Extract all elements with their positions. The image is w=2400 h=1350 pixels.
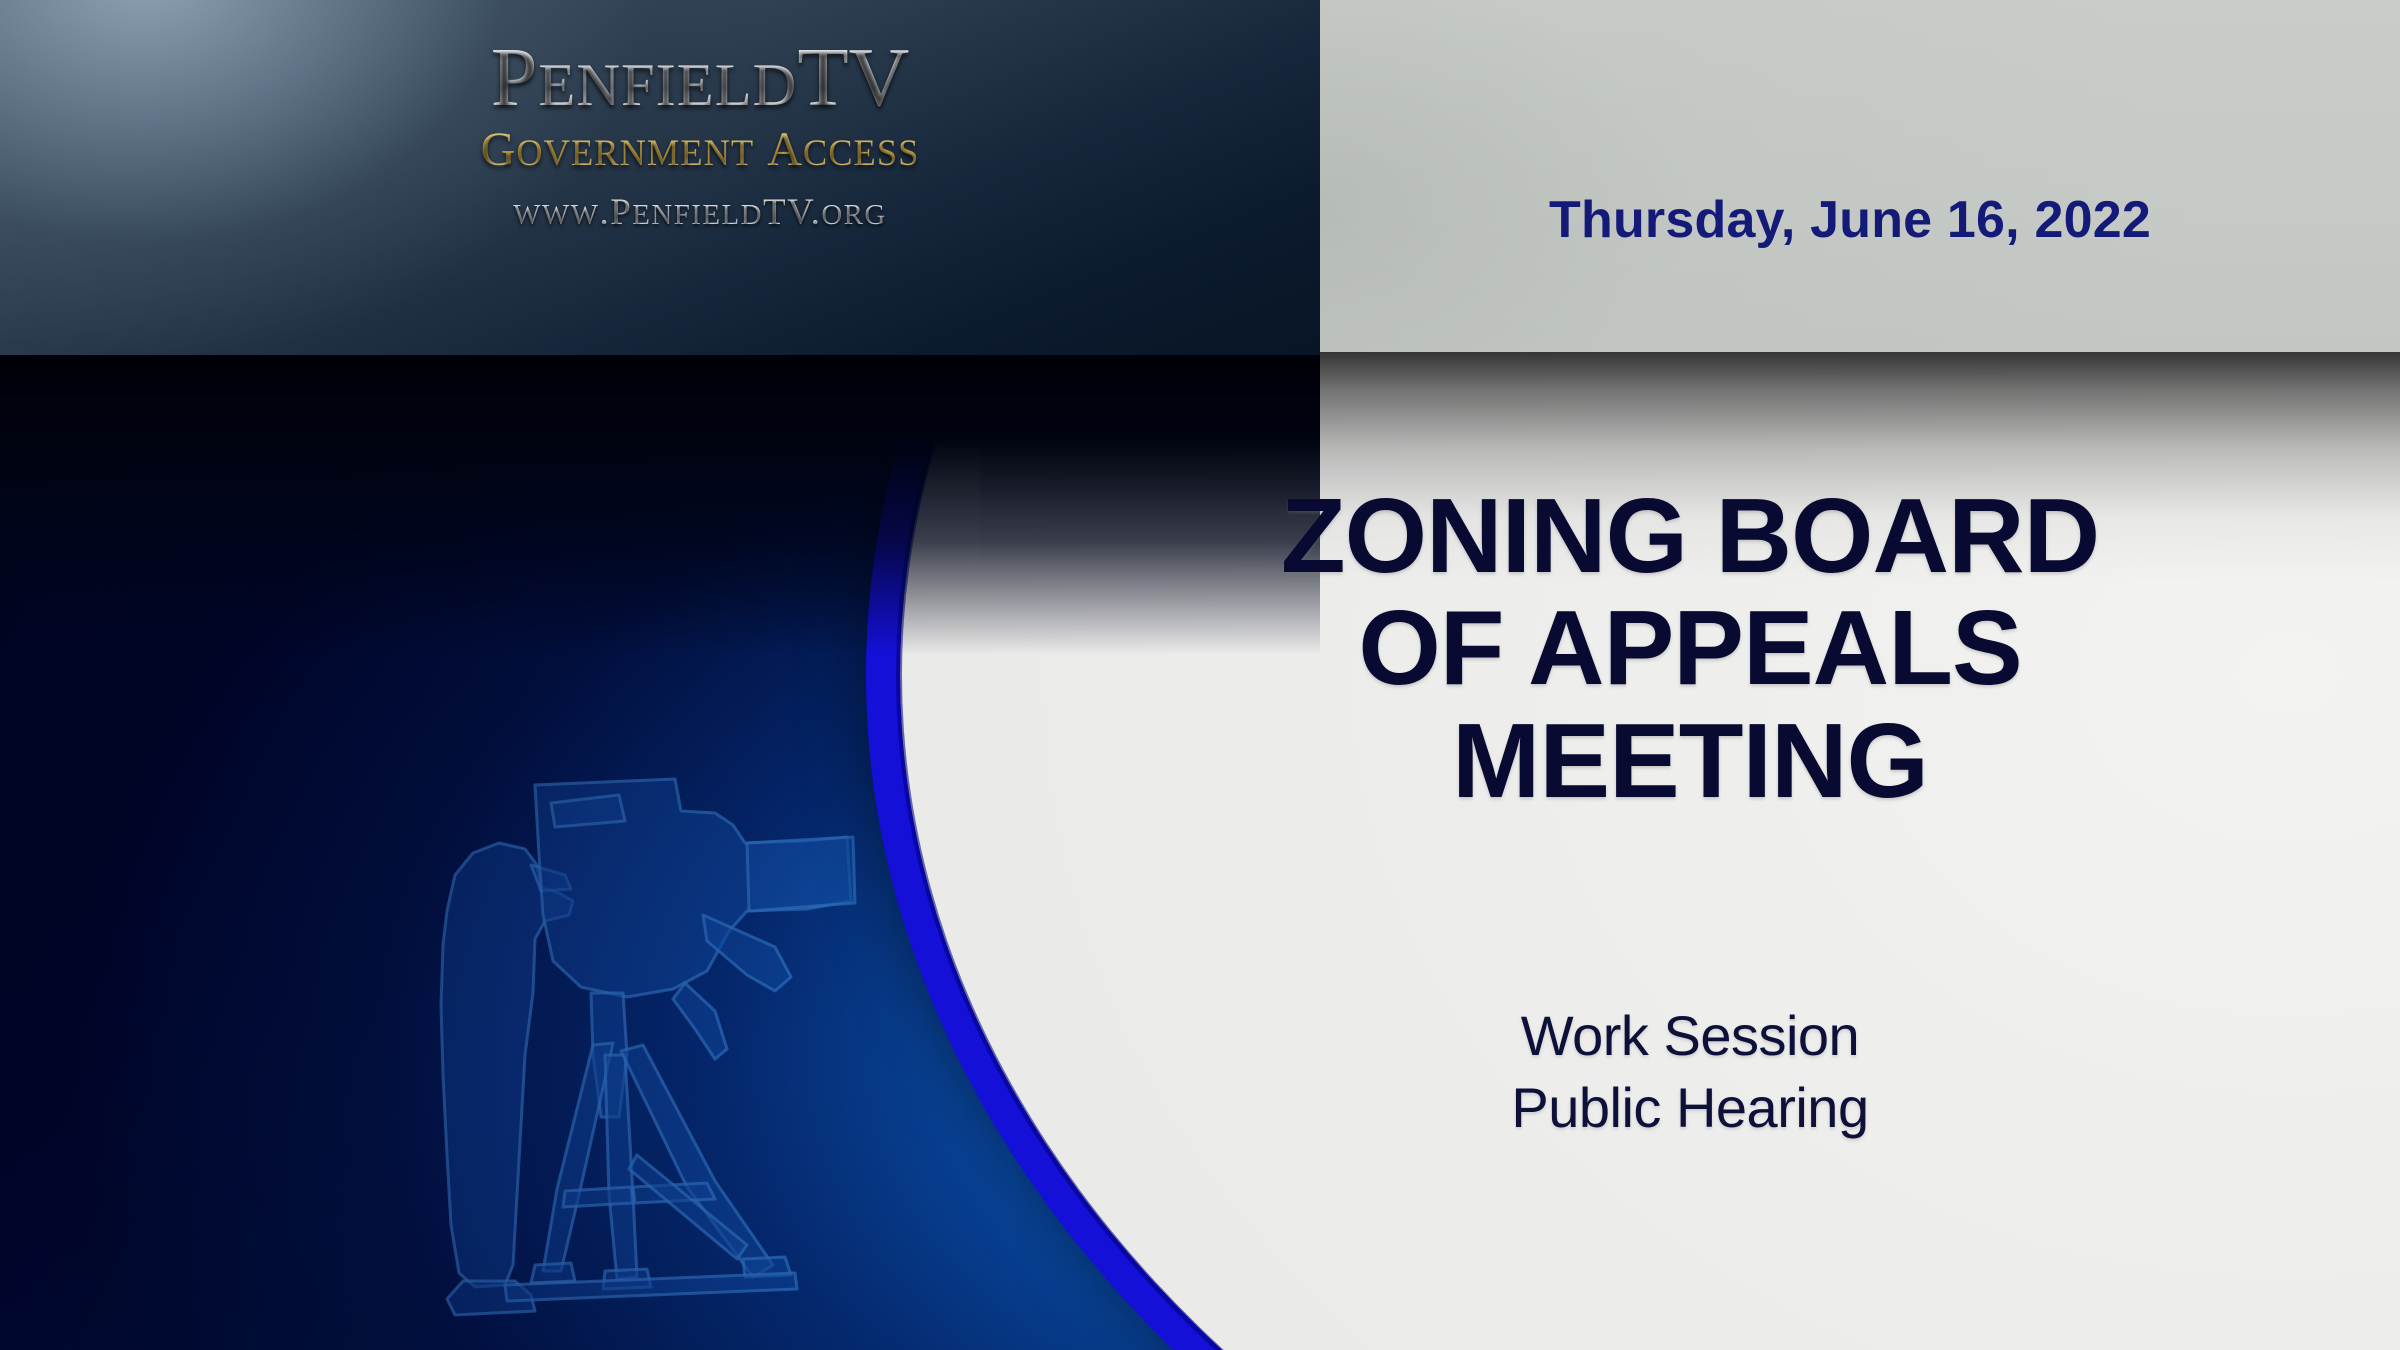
tagline-initial-g: G xyxy=(481,123,517,176)
tagline-government: OVERNMENT xyxy=(516,132,754,173)
meeting-title-line-2: OF APPEALS xyxy=(1080,592,2300,704)
penfield-tv-logo: PENFIELDTV GOVERNMENT ACCESS WWW.PENFIEL… xyxy=(400,36,1000,231)
url-www: WWW xyxy=(513,199,599,231)
meeting-date: Thursday, June 16, 2022 xyxy=(1320,190,2380,250)
title-card-stage: PENFIELDTV GOVERNMENT ACCESS WWW.PENFIEL… xyxy=(0,0,2400,1350)
url-enfield: ENFIELD xyxy=(632,199,763,231)
url-tv: TV xyxy=(763,192,811,233)
logo-website-url[interactable]: WWW.PENFIELDTV.ORG xyxy=(400,194,1000,231)
url-org: ORG xyxy=(821,199,886,231)
url-dot-2: . xyxy=(811,192,822,233)
meeting-title: ZONING BOARD OF APPEALS MEETING xyxy=(1080,480,2300,817)
logo-wordmark: PENFIELDTV xyxy=(400,36,1000,120)
tagline-access: CCESS xyxy=(803,132,920,173)
meeting-title-line-1: ZONING BOARD xyxy=(1080,480,2300,592)
logo-initial-p: P xyxy=(491,31,539,124)
url-p: P xyxy=(610,192,632,233)
meeting-title-line-3: MEETING xyxy=(1080,705,2300,817)
meeting-subtitle-line-1: Work Session xyxy=(1080,1000,2300,1072)
logo-tagline: GOVERNMENT ACCESS xyxy=(400,126,1000,174)
logo-tv: TV xyxy=(797,31,909,124)
url-dot-1: . xyxy=(599,192,610,233)
logo-enfield: ENFIELD xyxy=(538,52,797,119)
meeting-subtitle-line-2: Public Hearing xyxy=(1080,1072,2300,1144)
meeting-subtitle: Work Session Public Hearing xyxy=(1080,1000,2300,1143)
tagline-initial-a: A xyxy=(767,123,803,176)
